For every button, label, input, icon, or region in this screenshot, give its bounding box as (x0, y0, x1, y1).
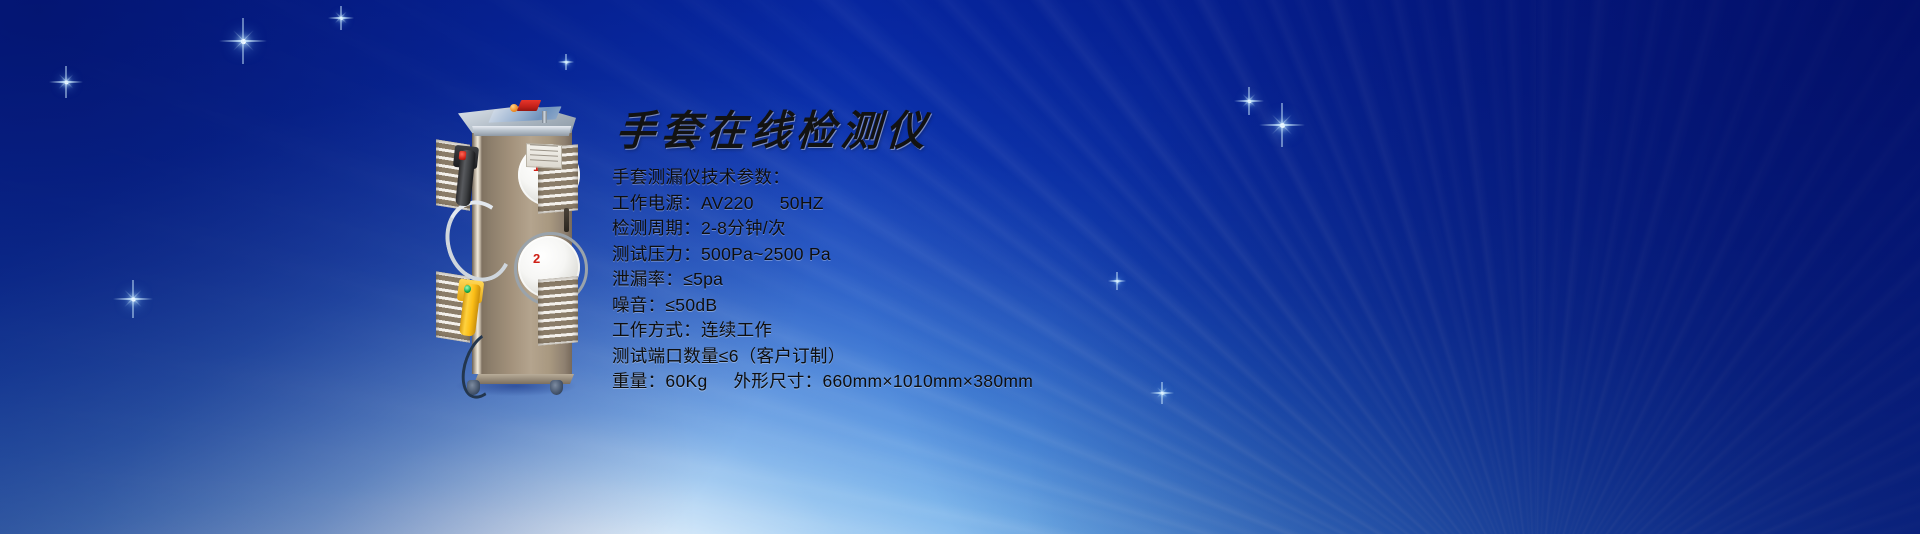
spec-value-secondary: 外形尺寸：660mm×1010mm×380mm (733, 371, 1033, 391)
spec-value: ≤50dB (665, 295, 717, 315)
spec-label: 测试端口数量≤6（客户订制） (612, 346, 846, 366)
product-photo-glove-tester: 1 2 (418, 88, 618, 394)
spec-value-secondary: 50HZ (780, 193, 824, 213)
spec-line: 检测周期：2-8分钟/次 (612, 216, 1312, 242)
spec-label: 工作方式： (612, 320, 701, 340)
spec-label: 工作电源： (612, 193, 701, 213)
spec-heading: 手套测漏仪技术参数： (612, 165, 1312, 191)
spec-label: 泄漏率： (612, 269, 683, 289)
spec-value: 2-8分钟/次 (701, 218, 786, 238)
spec-line: 测试压力：500Pa~2500 Pa (612, 242, 1312, 268)
control-knob (542, 111, 547, 123)
spec-value: 60Kg (665, 371, 707, 391)
page-title: 手套在线检测仪 (615, 111, 1314, 152)
spec-line: 工作电源：AV22050HZ (612, 191, 1312, 217)
cabinet-top-lip (458, 126, 576, 136)
spec-value: 连续工作 (701, 320, 772, 340)
spec-plate-label (526, 143, 562, 169)
spec-label: 重量： (612, 371, 665, 391)
grille-panel-right-lower (538, 276, 578, 345)
spec-label: 测试压力： (612, 244, 701, 264)
spec-value: 500Pa~2500 Pa (701, 244, 831, 264)
spec-line: 重量：60Kg外形尺寸：660mm×1010mm×380mm (612, 369, 1312, 395)
door-latch (564, 208, 569, 232)
spec-line: 噪音：≤50dB (612, 293, 1312, 319)
spec-value: ≤5pa (683, 269, 723, 289)
caster-wheel-left (467, 380, 480, 395)
product-banner: 1 2 手套在线检测仪 手套测漏仪技术参数： 工作电源：AV22050HZ检测周 (0, 0, 1920, 534)
indicator-light-red (459, 151, 467, 161)
spec-value: AV220 (701, 193, 754, 213)
spec-label: 噪音： (612, 295, 665, 315)
spec-line: 测试端口数量≤6（客户订制） (612, 344, 1312, 370)
test-port-number-2: 2 (533, 252, 540, 265)
caster-wheel-right (550, 380, 563, 395)
spec-label: 检测周期： (612, 218, 701, 238)
spec-list: 工作电源：AV22050HZ检测周期：2-8分钟/次测试压力：500Pa~250… (612, 191, 1312, 395)
product-text-block: 手套在线检测仪 手套测漏仪技术参数： 工作电源：AV22050HZ检测周期：2-… (612, 112, 1312, 395)
spec-line: 工作方式：连续工作 (612, 318, 1312, 344)
spec-line: 泄漏率：≤5pa (612, 267, 1312, 293)
